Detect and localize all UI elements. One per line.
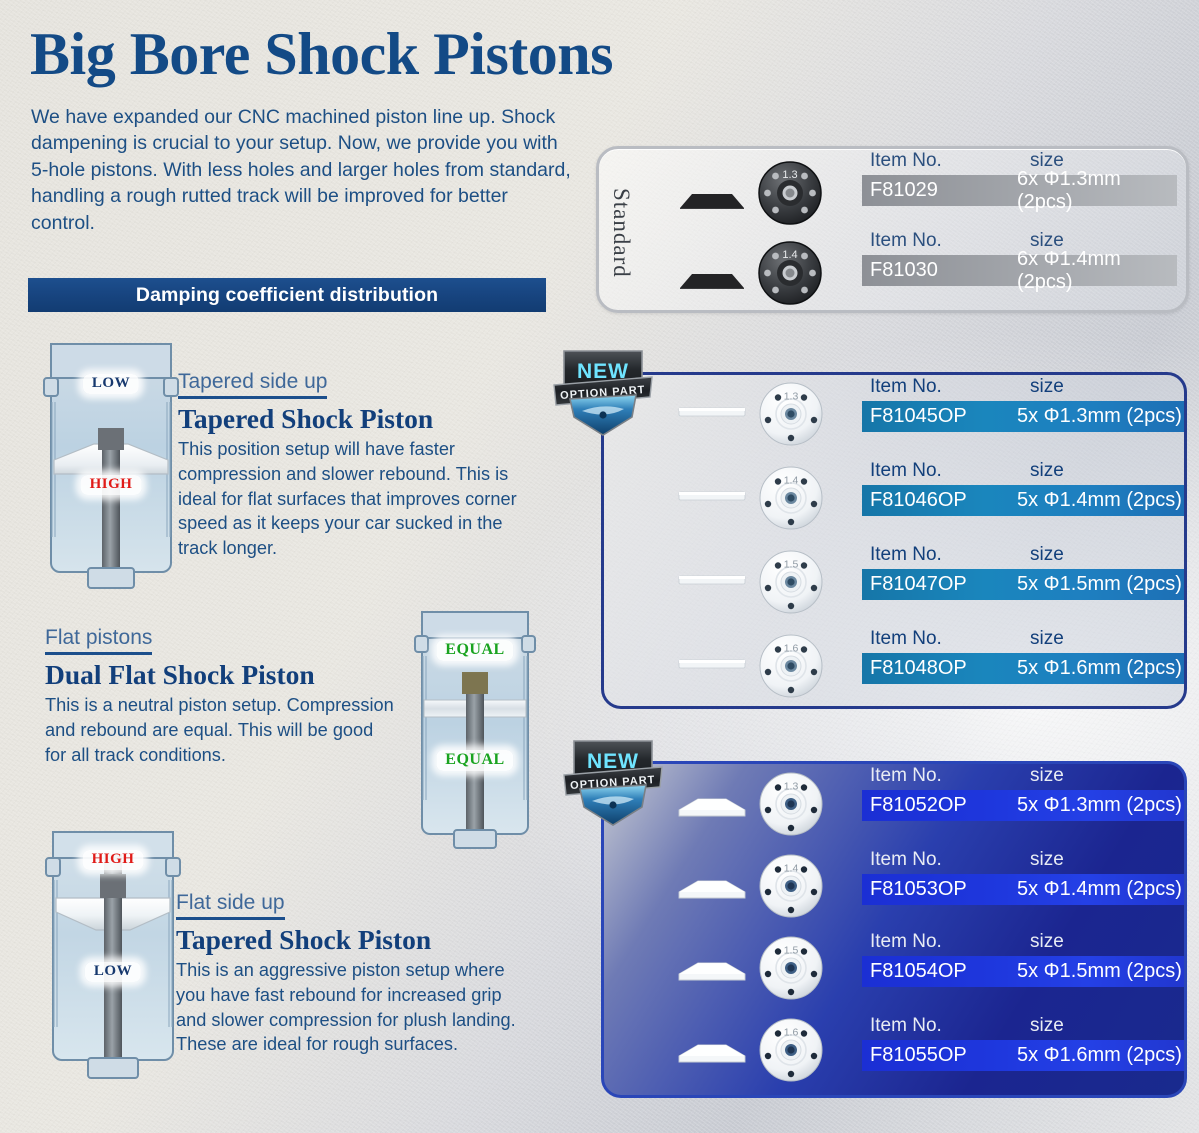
new-option-part-badge-2: NEW OPTION PART bbox=[560, 735, 666, 833]
piston-top-view-op1-3: 1.5 bbox=[757, 548, 825, 621]
feature-block-flat-pistons: Flat pistons Dual Flat Shock Piston This… bbox=[45, 627, 395, 767]
piston-5hole-top-icon: 1.3 bbox=[757, 770, 825, 838]
option1-row-4: Item No. size F81048OP 5x Φ1.6mm (2pcs) bbox=[862, 628, 1184, 704]
tapered-piston-side-icon bbox=[676, 1039, 748, 1065]
piston-top-view-op2-3: 1.5 bbox=[757, 934, 825, 1007]
row-values: F81030 6x Φ1.4mm (2pcs) bbox=[862, 255, 1177, 286]
piston-size-stamp: 1.5 bbox=[784, 559, 799, 571]
piston-5hole-top-icon: 1.5 bbox=[757, 934, 825, 1002]
damping-distribution-banner: Damping coefficient distribution bbox=[28, 278, 546, 312]
piston-5hole-top-icon: 1.4 bbox=[757, 852, 825, 920]
col-size-label: size bbox=[1030, 544, 1064, 566]
item-number: F81047OP bbox=[870, 573, 967, 596]
piston-size-stamp: 1.6 bbox=[784, 643, 799, 655]
piston-side-view-op1-2 bbox=[677, 489, 747, 508]
tapered-piston-side-icon bbox=[676, 875, 748, 901]
feature-kicker-2: Flat pistons bbox=[45, 627, 152, 655]
new-option-part-badge-icon: NEW OPTION PART bbox=[560, 735, 666, 833]
item-number: F81054OP bbox=[870, 960, 967, 983]
option1-row-3: Item No. size F81047OP 5x Φ1.5mm (2pcs) bbox=[862, 544, 1184, 620]
row-values: F81029 6x Φ1.3mm (2pcs) bbox=[862, 175, 1177, 206]
item-size: 5x Φ1.4mm (2pcs) bbox=[1017, 878, 1182, 901]
standard-label-text: Standard bbox=[608, 188, 634, 278]
piston-top-view-std-2: 1.4 bbox=[757, 240, 823, 311]
row-values: F81045OP 5x Φ1.3mm (2pcs) bbox=[862, 401, 1184, 432]
col-item-label: Item No. bbox=[870, 628, 942, 650]
tapered-piston-side-icon bbox=[676, 793, 748, 819]
piston-size-stamp: 1.3 bbox=[782, 169, 797, 181]
piston-5hole-top-icon: 1.6 bbox=[757, 632, 825, 700]
row-values: F81046OP 5x Φ1.4mm (2pcs) bbox=[862, 485, 1184, 516]
feature-body-3: This is an aggressive piston setup where… bbox=[176, 958, 521, 1056]
standard-row-1: Item No. size F81029 6x Φ1.3mm (2pcs) bbox=[862, 150, 1177, 226]
col-size-label: size bbox=[1030, 628, 1064, 650]
piston-size-stamp: 1.4 bbox=[784, 475, 799, 487]
new-option-part-badge-icon: NEW OPTION PART bbox=[550, 345, 656, 443]
flat-piston-side-icon bbox=[677, 489, 747, 503]
col-item-label: Item No. bbox=[870, 544, 942, 566]
standard-vertical-label: Standard bbox=[604, 160, 638, 305]
feature-body-1: This position setup will have faster com… bbox=[178, 437, 518, 560]
piston-side-view-op1-3 bbox=[677, 573, 747, 592]
tapered-piston-side-icon bbox=[676, 957, 748, 983]
feature-kicker-1: Tapered side up bbox=[178, 371, 327, 399]
item-size: 5x Φ1.3mm (2pcs) bbox=[1017, 405, 1182, 428]
piston-side-view-op2-3 bbox=[676, 957, 748, 988]
row-header: Item No. size bbox=[862, 849, 1184, 875]
item-size: 5x Φ1.5mm (2pcs) bbox=[1017, 573, 1182, 596]
tag-equal-top: EQUAL bbox=[436, 640, 513, 661]
item-size: 5x Φ1.6mm (2pcs) bbox=[1017, 1044, 1182, 1067]
piston-side-view-op2-4 bbox=[676, 1039, 748, 1070]
row-values: F81047OP 5x Φ1.5mm (2pcs) bbox=[862, 569, 1184, 600]
item-number: F81055OP bbox=[870, 1044, 967, 1067]
intro-paragraph: We have expanded our CNC machined piston… bbox=[31, 104, 571, 236]
tag-high-1: HIGH bbox=[81, 475, 142, 495]
feature-body-2: This is a neutral piston setup. Compress… bbox=[45, 693, 395, 767]
option1-row-2: Item No. size F81046OP 5x Φ1.4mm (2pcs) bbox=[862, 460, 1184, 536]
item-size: 6x Φ1.4mm (2pcs) bbox=[1017, 248, 1177, 294]
col-item-label: Item No. bbox=[870, 150, 942, 172]
row-values: F81054OP 5x Φ1.5mm (2pcs) bbox=[862, 956, 1184, 987]
piston-5hole-top-icon: 1.3 bbox=[757, 380, 825, 448]
row-header: Item No. size bbox=[862, 376, 1184, 402]
piston-top-view-op2-2: 1.4 bbox=[757, 852, 825, 925]
piston-top-view-op2-1: 1.3 bbox=[757, 770, 825, 843]
tag-equal-bottom: EQUAL bbox=[436, 750, 513, 771]
row-header: Item No. size bbox=[862, 931, 1184, 957]
damping-distribution-label: Damping coefficient distribution bbox=[136, 284, 438, 307]
shock-diagram-flat-side-up: HIGH LOW bbox=[38, 822, 188, 1088]
col-size-label: size bbox=[1030, 1015, 1064, 1037]
row-header: Item No. size bbox=[862, 460, 1184, 486]
piston-size-stamp: 1.4 bbox=[782, 249, 797, 261]
feature-heading-2: Dual Flat Shock Piston bbox=[45, 659, 395, 691]
item-size: 5x Φ1.6mm (2pcs) bbox=[1017, 657, 1182, 680]
item-size: 5x Φ1.4mm (2pcs) bbox=[1017, 489, 1182, 512]
piston-side-view-op2-1 bbox=[676, 793, 748, 824]
piston-top-view-op1-1: 1.3 bbox=[757, 380, 825, 453]
feature-block-flat-side-up: Flat side up Tapered Shock Piston This i… bbox=[176, 892, 521, 1057]
piston-side-view-std-1 bbox=[678, 186, 746, 215]
row-values: F81052OP 5x Φ1.3mm (2pcs) bbox=[862, 790, 1184, 821]
item-number: F81030 bbox=[870, 259, 938, 282]
tapered-piston-side-icon bbox=[678, 266, 746, 290]
option2-row-4: Item No. size F81055OP 5x Φ1.6mm (2pcs) bbox=[862, 1015, 1184, 1091]
feature-heading-3: Tapered Shock Piston bbox=[176, 924, 521, 956]
flat-piston-side-icon bbox=[677, 573, 747, 587]
piston-size-stamp: 1.5 bbox=[784, 945, 799, 957]
piston-size-stamp: 1.3 bbox=[784, 781, 799, 793]
tapered-piston-side-icon bbox=[678, 186, 746, 210]
piston-size-stamp: 1.3 bbox=[784, 391, 799, 403]
feature-kicker-3: Flat side up bbox=[176, 892, 285, 920]
row-header: Item No. size bbox=[862, 628, 1184, 654]
option1-row-1: Item No. size F81045OP 5x Φ1.3mm (2pcs) bbox=[862, 376, 1184, 452]
col-item-label: Item No. bbox=[870, 1015, 942, 1037]
piston-side-view-op1-1 bbox=[677, 405, 747, 424]
item-number: F81045OP bbox=[870, 405, 967, 428]
piston-top-view-op1-2: 1.4 bbox=[757, 464, 825, 537]
piston-top-view-std-1: 1.3 bbox=[757, 160, 823, 231]
flat-piston-side-icon bbox=[677, 405, 747, 419]
item-number: F81052OP bbox=[870, 794, 967, 817]
col-item-label: Item No. bbox=[870, 376, 942, 398]
shock-cutaway-icon bbox=[36, 332, 186, 594]
col-size-label: size bbox=[1030, 765, 1064, 787]
option2-row-2: Item No. size F81053OP 5x Φ1.4mm (2pcs) bbox=[862, 849, 1184, 925]
item-number: F81029 bbox=[870, 179, 938, 202]
piston-side-view-std-2 bbox=[678, 266, 746, 295]
shock-diagram-dual-flat: EQUAL EQUAL bbox=[410, 604, 540, 854]
piston-size-stamp: 1.4 bbox=[784, 863, 799, 875]
piston-size-stamp: 1.6 bbox=[784, 1027, 799, 1039]
item-number: F81046OP bbox=[870, 489, 967, 512]
piston-5hole-top-icon: 1.4 bbox=[757, 464, 825, 532]
option2-row-3: Item No. size F81054OP 5x Φ1.5mm (2pcs) bbox=[862, 931, 1184, 1007]
feature-block-tapered-side-up: Tapered side up Tapered Shock Piston Thi… bbox=[178, 371, 518, 560]
col-item-label: Item No. bbox=[870, 230, 942, 252]
row-values: F81048OP 5x Φ1.6mm (2pcs) bbox=[862, 653, 1184, 684]
tag-high-3: HIGH bbox=[83, 850, 144, 870]
flat-piston-side-icon bbox=[677, 657, 747, 671]
tag-low-3: LOW bbox=[85, 962, 141, 982]
row-header: Item No. size bbox=[862, 765, 1184, 791]
item-size: 6x Φ1.3mm (2pcs) bbox=[1017, 168, 1177, 214]
col-item-label: Item No. bbox=[870, 460, 942, 482]
item-size: 5x Φ1.3mm (2pcs) bbox=[1017, 794, 1182, 817]
col-size-label: size bbox=[1030, 376, 1064, 398]
piston-6hole-top-icon: 1.3 bbox=[757, 160, 823, 226]
shock-diagram-tapered-side-up: LOW HIGH bbox=[36, 332, 186, 594]
piston-side-view-op1-4 bbox=[677, 657, 747, 676]
piston-top-view-op1-4: 1.6 bbox=[757, 632, 825, 705]
row-values: F81055OP 5x Φ1.6mm (2pcs) bbox=[862, 1040, 1184, 1071]
piston-top-view-op2-4: 1.6 bbox=[757, 1016, 825, 1089]
col-item-label: Item No. bbox=[870, 765, 942, 787]
col-size-label: size bbox=[1030, 460, 1064, 482]
item-number: F81053OP bbox=[870, 878, 967, 901]
col-size-label: size bbox=[1030, 931, 1064, 953]
piston-5hole-top-icon: 1.6 bbox=[757, 1016, 825, 1084]
feature-heading-1: Tapered Shock Piston bbox=[178, 403, 518, 435]
row-header: Item No. size bbox=[862, 544, 1184, 570]
col-item-label: Item No. bbox=[870, 931, 942, 953]
tag-low-1: LOW bbox=[83, 374, 139, 394]
col-item-label: Item No. bbox=[870, 849, 942, 871]
piston-side-view-op2-2 bbox=[676, 875, 748, 906]
item-number: F81048OP bbox=[870, 657, 967, 680]
row-header: Item No. size bbox=[862, 1015, 1184, 1041]
col-size-label: size bbox=[1030, 849, 1064, 871]
piston-6hole-top-icon: 1.4 bbox=[757, 240, 823, 306]
item-size: 5x Φ1.5mm (2pcs) bbox=[1017, 960, 1182, 983]
new-option-part-badge-1: NEW OPTION PART bbox=[550, 345, 656, 443]
row-values: F81053OP 5x Φ1.4mm (2pcs) bbox=[862, 874, 1184, 905]
standard-row-2: Item No. size F81030 6x Φ1.4mm (2pcs) bbox=[862, 230, 1177, 306]
piston-5hole-top-icon: 1.5 bbox=[757, 548, 825, 616]
option2-row-1: Item No. size F81052OP 5x Φ1.3mm (2pcs) bbox=[862, 765, 1184, 841]
page-title: Big Bore Shock Pistons bbox=[30, 24, 613, 84]
